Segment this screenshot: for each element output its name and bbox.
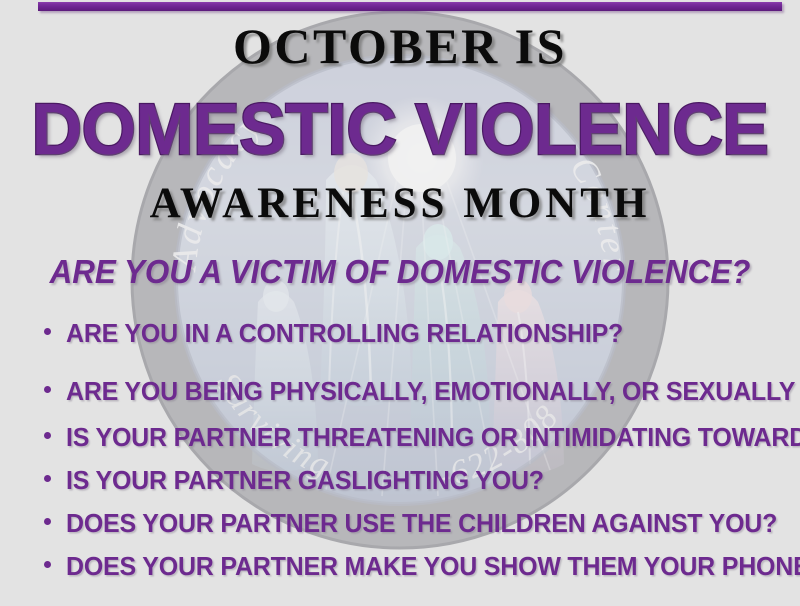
list-item: IS YOUR PARTNER GASLIGHTING YOU? — [44, 465, 564, 496]
list-item-label: IS YOUR PARTNER GASLIGHTING YOU? — [66, 465, 544, 496]
bullet-dot-icon — [44, 432, 51, 439]
bullet-dot-icon — [44, 386, 51, 393]
poster-content: OCTOBER IS DOMESTIC VIOLENCE AWARENESS M… — [0, 0, 800, 606]
list-item-label: DOES YOUR PARTNER USE THE CHILDREN AGAIN… — [66, 508, 777, 539]
list-item: IS YOUR PARTNER THREATENING OR INTIMIDAT… — [44, 422, 800, 453]
poster-canvas: Advocacy Center Surviving -622-808 OCTOB… — [0, 0, 800, 606]
bullet-dot-icon — [44, 475, 51, 482]
list-item-label: IS YOUR PARTNER THREATENING OR INTIMIDAT… — [66, 422, 800, 453]
subtitle-heading: AWARENESS MONTH — [0, 181, 800, 227]
list-item: DOES YOUR PARTNER MAKE YOU SHOW THEM YOU… — [44, 551, 800, 582]
list-item-label: ARE YOU BEING PHYSICALLY, EMOTIONALLY, O… — [66, 376, 800, 407]
eyebrow-heading: OCTOBER IS — [0, 19, 800, 73]
top-purple-rule — [38, 2, 782, 11]
question-heading: ARE YOU A VICTIM OF DOMESTIC VIOLENCE? — [20, 254, 780, 290]
list-item: ARE YOU BEING PHYSICALLY, EMOTIONALLY, O… — [44, 376, 800, 407]
bullet-dot-icon — [44, 561, 51, 568]
bullet-dot-icon — [44, 518, 51, 525]
list-item-label: ARE YOU IN A CONTROLLING RELATIONSHIP? — [66, 318, 623, 349]
list-item: ARE YOU IN A CONTROLLING RELATIONSHIP? — [44, 318, 646, 349]
list-item-label: DOES YOUR PARTNER MAKE YOU SHOW THEM YOU… — [66, 551, 800, 582]
bullet-dot-icon — [44, 328, 51, 335]
list-item: DOES YOUR PARTNER USE THE CHILDREN AGAIN… — [44, 508, 800, 539]
page-title: DOMESTIC VIOLENCE — [12, 94, 788, 166]
